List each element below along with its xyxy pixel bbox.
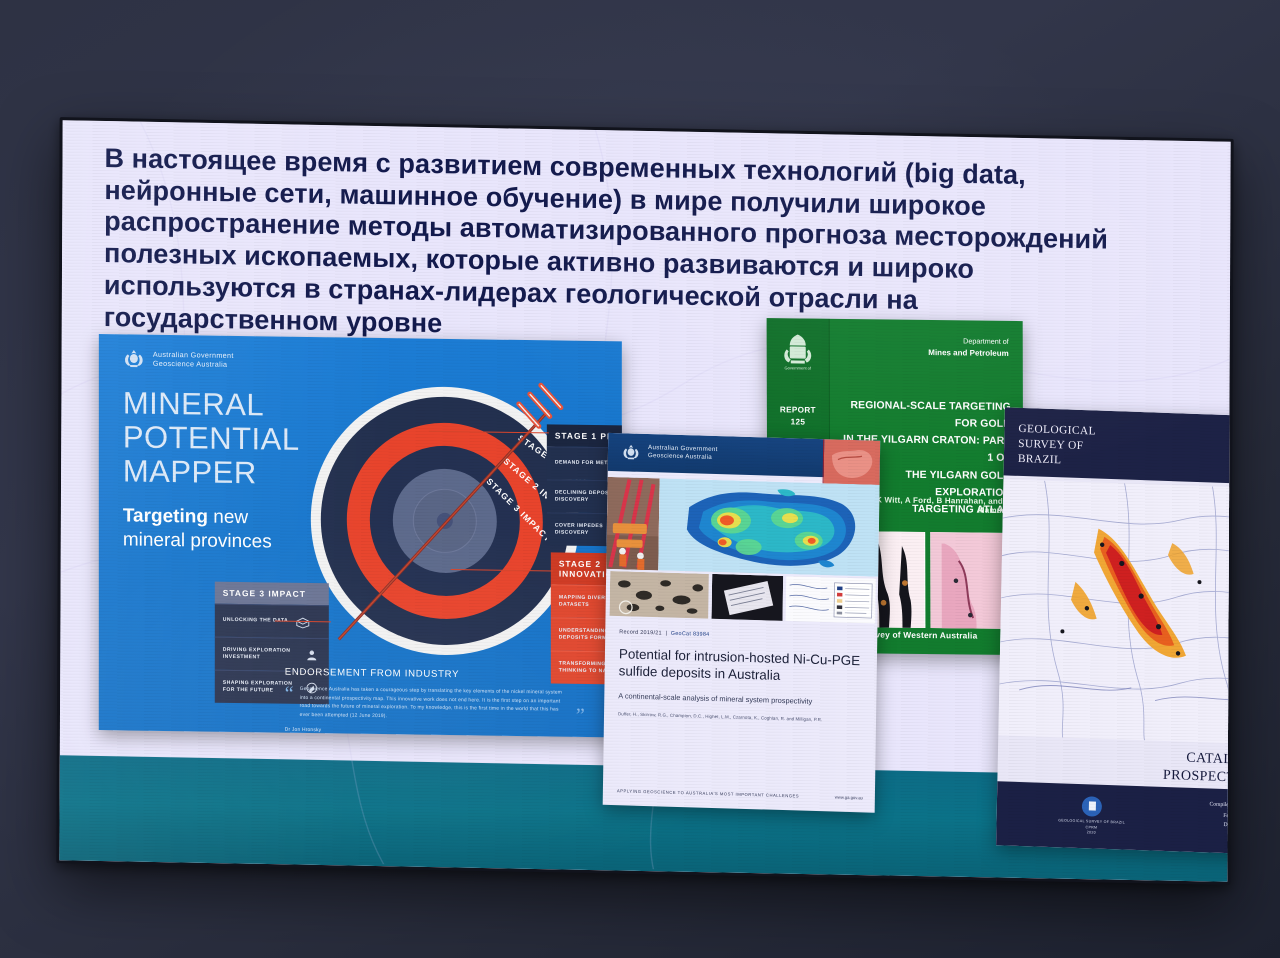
brazil-prospectivity-map xyxy=(998,479,1230,745)
brazil-publisher: GEOLOGICAL SURVEY OF BRAZIL xyxy=(1018,422,1096,470)
mineral-potential-mapper-poster: Australian Government Geoscience Austral… xyxy=(99,334,622,737)
poster-title: MINERAL POTENTIAL MAPPER xyxy=(123,386,300,491)
record-title: Potential for intrusion-hosted Ni-Cu-PGE… xyxy=(619,645,865,686)
report-number: 125 xyxy=(767,416,829,429)
report-label: REPORT xyxy=(767,404,829,417)
report-title-line: REGIONAL-SCALE TARGETING FOR GOLD xyxy=(839,397,1011,433)
record-footer-tagline: APPLYING GEOSCIENCE TO AUSTRALIA'S MOST … xyxy=(617,788,799,798)
poster-subtitle-bold: Targeting xyxy=(123,505,208,527)
poster-subtitle: Targeting new mineral provinces xyxy=(123,504,272,555)
record-url: www.ga.gov.au xyxy=(835,795,863,801)
endorsement-attrib-name: Dr Jon Hronsky xyxy=(285,727,585,737)
endorsement-heading: ENDORSEMENT FROM INDUSTRY xyxy=(285,667,585,682)
logo-line-2: Geoscience Australia xyxy=(153,359,234,369)
quote-open-mark: “ xyxy=(285,686,294,720)
brazil-credits: Compiled and organized by: Felipe Mattos… xyxy=(1209,802,1231,841)
geology-legend-map-icon xyxy=(786,576,876,623)
record-identifier: Record 2019/21 | GeoCat 83984 xyxy=(619,629,709,638)
projection-screen-frame: В настоящее время с развитием современны… xyxy=(56,117,1233,885)
record-image-row-bottom xyxy=(609,571,876,629)
poster-subtitle-rest: new xyxy=(208,507,248,529)
record-image-row-top xyxy=(606,477,879,577)
record-authors: Duffer, H., Skirrow, R.G., Champion, D.C… xyxy=(618,711,862,723)
australia-red-inset-map-icon xyxy=(824,439,881,489)
nicu-pge-record-cover: Australian Government Geoscience Austral… xyxy=(603,433,881,813)
investment-icon xyxy=(303,648,321,662)
geology-legend-map xyxy=(786,576,876,629)
australian-coat-of-arms-icon xyxy=(620,443,642,461)
stage3-item-label: DRIVING EXPLORATION INVESTMENT xyxy=(223,646,297,662)
australian-coat-of-arms-icon xyxy=(121,348,147,368)
department-block: Department of Mines and Petroleum xyxy=(928,336,1009,360)
publisher-line: BRAZIL xyxy=(1018,452,1096,470)
record-subtitle: A continental-scale analysis of mineral … xyxy=(618,691,862,707)
geocat-label: GeoCat xyxy=(671,631,691,638)
quote-close-mark: ” xyxy=(576,708,585,724)
outcrop-rock-photo xyxy=(609,571,708,624)
brazil-catalog-cover: GEOLOGICAL SURVEY OF BRAZIL xyxy=(996,407,1231,855)
credits-heading: Compiled and organized by: xyxy=(1209,802,1230,810)
core-tray-photo-icon xyxy=(711,574,783,621)
page-title: В настоящее время с развитием современны… xyxy=(104,143,1193,353)
endorsement-quote: Geoscience Australia has taken a courage… xyxy=(300,686,570,724)
poster-title-line: POTENTIAL xyxy=(123,420,300,457)
australia-prospectivity-heatmap xyxy=(658,478,879,576)
geological-survey-brazil-seal-icon xyxy=(1082,796,1102,817)
australia-prospectivity-heatmap-icon xyxy=(658,478,879,576)
projection-screen-surface: В настоящее время с развитием современны… xyxy=(59,120,1230,882)
poster-subtitle-line2: mineral provinces xyxy=(123,529,272,555)
brazil-prospectivity-map-icon xyxy=(998,479,1230,745)
photo-of-projection-screen: В настоящее время с развитием современны… xyxy=(0,0,1280,958)
geoscience-australia-logo: Australian Government Geoscience Austral… xyxy=(121,348,234,370)
record-label: Record xyxy=(619,629,638,636)
drill-rig-photo xyxy=(606,477,659,570)
western-australia-crest-icon: Government of xyxy=(781,332,815,372)
drill-rig-photo-icon xyxy=(606,477,659,570)
record-number: 2019/21 xyxy=(640,630,662,637)
core-tray-photo xyxy=(711,574,783,626)
presentation-slide: В настоящее время с развитием современны… xyxy=(59,120,1230,882)
bullseye-target-diagram: STAGE 1 PROBLEM STAGE 2 INNOVATION STAGE… xyxy=(311,385,579,657)
outcrop-rock-photo-icon xyxy=(610,571,709,619)
svg-text:Government of: Government of xyxy=(785,365,812,370)
geocat-number: 83984 xyxy=(693,631,710,637)
brazil-seal-block: GEOLOGICAL SURVEY OF BRAZIL CPRM 2020 xyxy=(1048,795,1135,838)
geoscience-australia-logo: Australian Government Geoscience Austral… xyxy=(648,444,718,462)
stage3-heading: STAGE 3 IMPACT xyxy=(215,582,329,606)
poster-title-line: MAPPER xyxy=(123,455,300,492)
poster-title-line: MINERAL xyxy=(123,386,300,423)
report-number-block: REPORT 125 xyxy=(767,404,829,428)
department-line2: Mines and Petroleum xyxy=(928,347,1008,360)
endorsement-section: ENDORSEMENT FROM INDUSTRY “ Geoscience A… xyxy=(285,667,585,738)
target-bullseye-center xyxy=(437,513,453,529)
